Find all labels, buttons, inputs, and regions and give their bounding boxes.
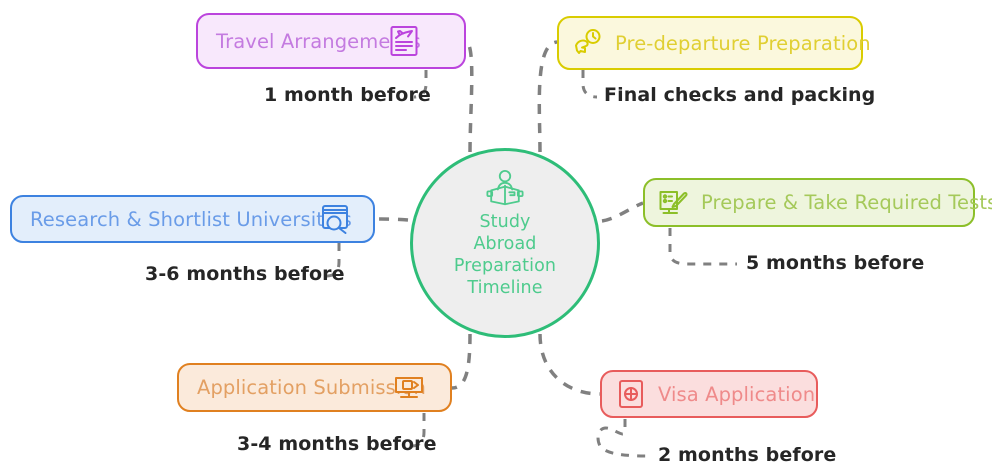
edge-travel-arrangements (466, 42, 472, 152)
center-node[interactable]: Study Abroad Preparation Timeline (410, 148, 600, 338)
mindmap-canvas: Study Abroad Preparation Timeline Travel… (0, 0, 992, 475)
leader-visa-application (598, 419, 648, 456)
edge-pre-departure-preparation (539, 42, 557, 152)
exam-monitor-pencil-icon (657, 186, 691, 220)
edge-research-shortlist-universities (375, 219, 408, 220)
sublabel-prepare-take-required-tests: 5 months before (746, 252, 924, 274)
node-prepare-take-required-tests[interactable]: Prepare & Take Required Tests (643, 178, 975, 227)
node-application-submission[interactable]: Application Submission (177, 363, 452, 412)
node-visa-application-label: Visa Application (658, 383, 815, 406)
edge-prepare-take-required-tests (602, 203, 643, 221)
node-research-shortlist-universities-label: Research & Shortlist Universities (30, 208, 352, 231)
sublabel-visa-application: 2 months before (658, 444, 836, 466)
node-prepare-take-required-tests-label: Prepare & Take Required Tests (701, 191, 992, 214)
flight-ticket-icon (387, 24, 421, 58)
monitor-upload-icon (392, 371, 426, 405)
node-travel-arrangements[interactable]: Travel Arrangements (196, 13, 466, 69)
book-search-icon (318, 202, 352, 236)
person-reading-book-icon (482, 169, 528, 209)
sublabel-application-submission: 3-4 months before (237, 433, 437, 455)
sublabel-travel-arrangements: 1 month before (264, 84, 431, 106)
checklist-clock-icon (571, 26, 605, 60)
edge-application-submission (452, 334, 470, 388)
node-visa-application[interactable]: Visa Application (600, 370, 818, 418)
center-node-label: Study Abroad Preparation Timeline (454, 211, 556, 299)
node-pre-departure-preparation-label: Pre-departure Preparation (615, 32, 871, 55)
edge-visa-application (540, 334, 600, 394)
sublabel-pre-departure-preparation: Final checks and packing (604, 84, 875, 106)
leader-prepare-take-required-tests (670, 228, 737, 264)
sublabel-research-shortlist-universities: 3-6 months before (145, 263, 345, 285)
leader-pre-departure-preparation (583, 70, 597, 97)
node-research-shortlist-universities[interactable]: Research & Shortlist Universities (10, 195, 375, 243)
passport-crosshair-icon (614, 377, 648, 411)
node-pre-departure-preparation[interactable]: Pre-departure Preparation (557, 16, 863, 70)
